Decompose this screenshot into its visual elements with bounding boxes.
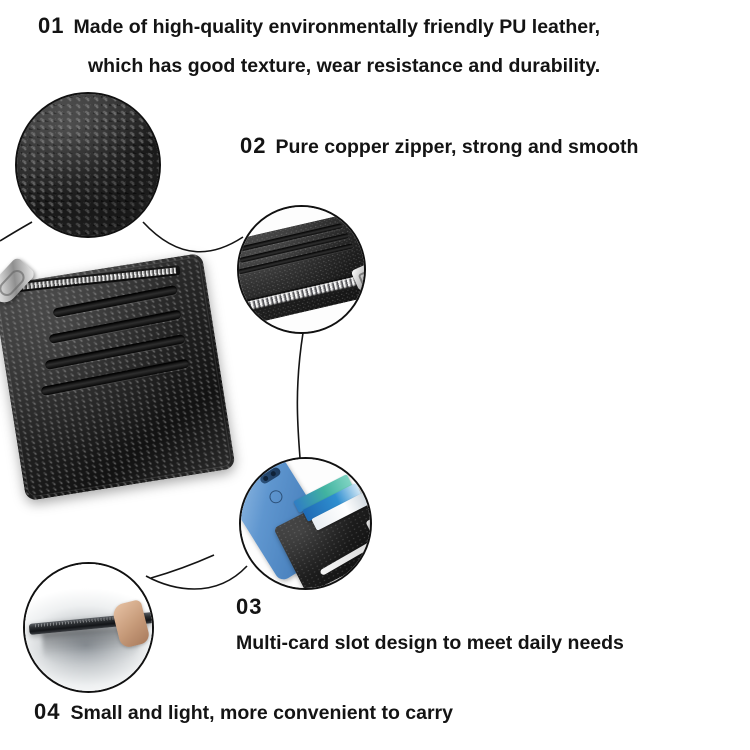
connector-03-to-04 <box>146 566 247 589</box>
product-feature-infographic: 01Made of high-quality environmentally f… <box>0 0 750 750</box>
feature-text-02: 02Pure copper zipper, strong and smooth <box>240 133 638 159</box>
wallet-leather-body <box>0 253 236 501</box>
feature-number-04: 04 <box>34 699 60 724</box>
feature-line1-04: Small and light, more convenient to carr… <box>70 702 453 724</box>
phone-camera-icon <box>259 466 282 485</box>
feature-number-03: 03 <box>236 588 624 625</box>
connector-02-to-03 <box>297 333 303 458</box>
feature-text-01: 01Made of high-quality environmentally f… <box>38 6 728 86</box>
leather-texture-fill <box>15 92 161 238</box>
hero-product-wallet <box>0 253 236 501</box>
zipper-scene <box>239 207 364 332</box>
phone-fingerprint-sensor-icon <box>267 488 285 506</box>
callout-image-04-thin-profile <box>23 562 154 693</box>
feature-number-02: 02 <box>240 133 266 158</box>
wallet-edge-highlight <box>319 540 372 576</box>
callout-image-03-card-slots <box>239 457 372 590</box>
feature-line1-02: Pure copper zipper, strong and smooth <box>275 136 638 158</box>
feature-text-04: 04Small and light, more convenient to ca… <box>34 699 453 725</box>
feature-line1-01: Made of high-quality environmentally fri… <box>73 16 600 38</box>
callout-image-02-zipper <box>237 205 366 334</box>
feature-text-03: 03 Multi-card slot design to meet daily … <box>236 588 624 662</box>
zipper-pull-tab <box>365 515 372 533</box>
card-slot-scene <box>241 459 370 588</box>
connector-04-right-tail <box>151 555 214 578</box>
feature-number-01: 01 <box>38 13 64 38</box>
feature-line1-03: Multi-card slot design to meet daily nee… <box>236 625 624 662</box>
callout-image-01-leather-texture <box>15 92 161 238</box>
feature-line2-01: which has good texture, wear resistance … <box>38 47 728 86</box>
